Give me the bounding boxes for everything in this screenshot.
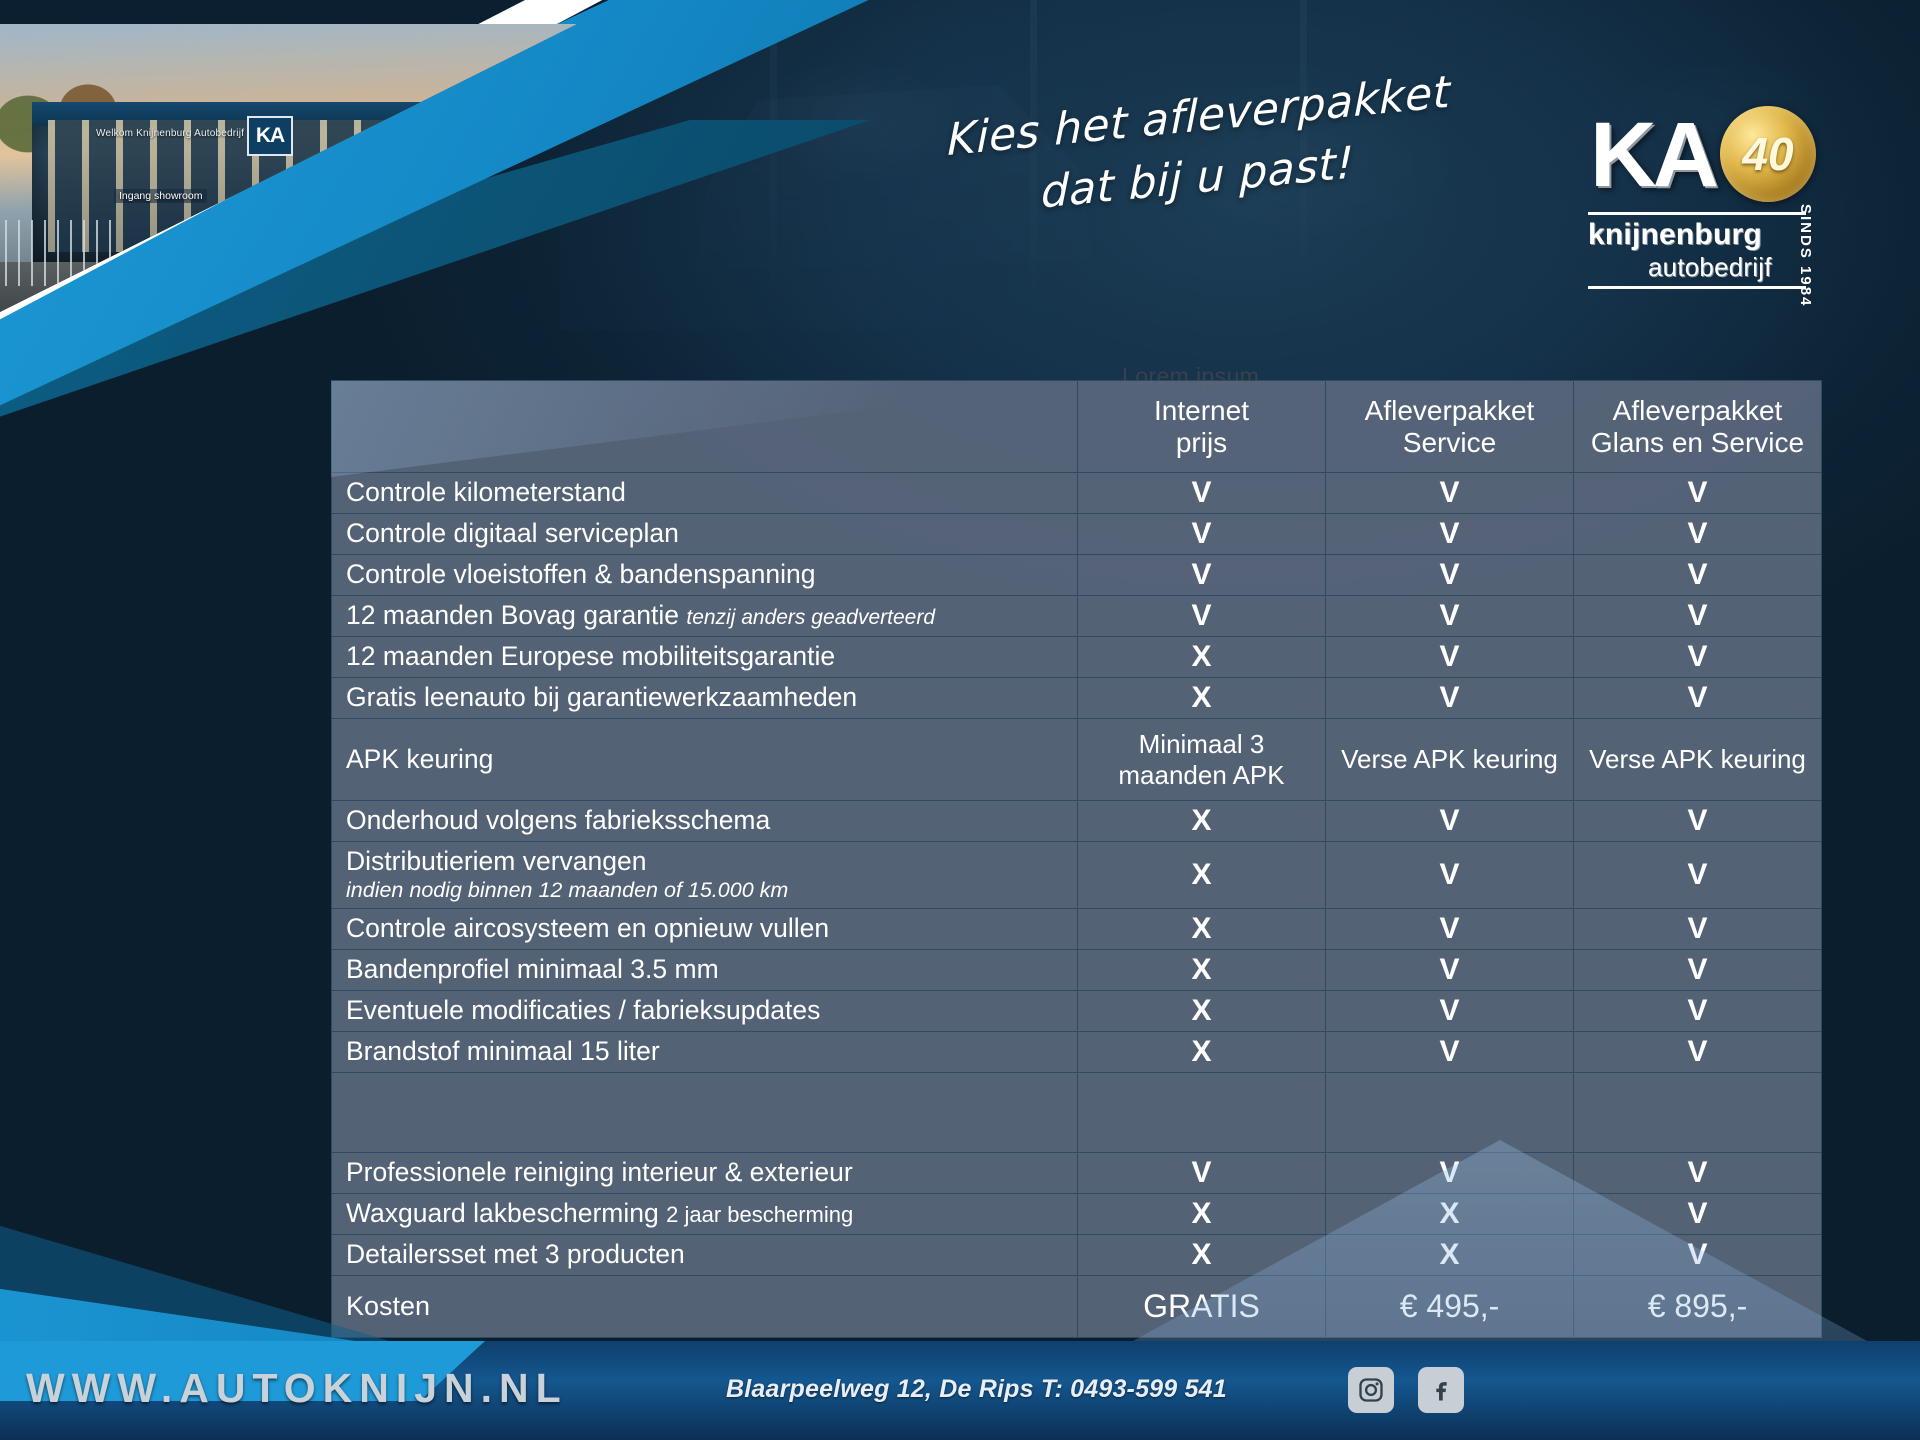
row-cell-glans: V <box>1574 596 1822 637</box>
row-cell-service: V <box>1326 637 1574 678</box>
row-feature-label: 12 maanden Europese mobiliteitsgarantie <box>332 637 1078 678</box>
row-feature-label: Brandstof minimaal 15 liter <box>332 1031 1078 1072</box>
row-cell-glans: V <box>1574 842 1822 909</box>
table-row: Detailersset met 3 producten X X V <box>332 1234 1822 1275</box>
row-cell-service: V <box>1326 1031 1574 1072</box>
table-body: Controle kilometerstand V V V Controle d… <box>332 473 1822 1338</box>
header-label-0: Internet <box>1154 395 1249 426</box>
table-row: Onderhoud volgens fabrieksschema X V V <box>332 801 1822 842</box>
row-cell-glans: V <box>1574 1031 1822 1072</box>
row-feature-cell: Waxguard lakbescherming 2 jaar beschermi… <box>332 1193 1078 1234</box>
row-feature-label: Controle digitaal serviceplan <box>332 514 1078 555</box>
package-comparison-table: Internet prijs Afleverpakket Service Afl… <box>331 380 1822 1338</box>
table-header: Internet prijs Afleverpakket Service Afl… <box>332 381 1822 473</box>
row-cell-internet: X <box>1078 990 1326 1031</box>
row-feature-label: Distributieriem vervangen <box>346 846 646 876</box>
logo-since-text: SINDS 1984 <box>1797 204 1814 307</box>
table-row: Controle vloeistoffen & bandenspanning V… <box>332 555 1822 596</box>
cost-label: Kosten <box>332 1275 1078 1337</box>
row-cell-glans <box>1574 1072 1822 1152</box>
logo-divider-bottom <box>1588 286 1806 289</box>
row-cell-glans: V <box>1574 514 1822 555</box>
row-cell-internet: X <box>1078 637 1326 678</box>
row-cell-internet: V <box>1078 596 1326 637</box>
row-cell-service: V <box>1326 596 1574 637</box>
row-cell-internet <box>1078 1072 1326 1152</box>
table-row-cost: Kosten GRATIS € 495,- € 895,- <box>332 1275 1822 1337</box>
row-feature-cell: 12 maanden Bovag garantie tenzij anders … <box>332 596 1078 637</box>
row-cell-glans: V <box>1574 949 1822 990</box>
table-row: APK keuring Minimaal 3 maanden APK Verse… <box>332 719 1822 801</box>
logo-anniversary-badge: 40 <box>1720 106 1816 202</box>
header-cell-afleverpakket-glans: Afleverpakket Glans en Service <box>1574 381 1822 473</box>
header-cell-internet-prijs: Internet prijs <box>1078 381 1326 473</box>
table-header-row: Internet prijs Afleverpakket Service Afl… <box>332 381 1822 473</box>
row-cell-service <box>1326 1072 1574 1152</box>
row-cell-service: V <box>1326 1152 1574 1193</box>
logo-company-subtitle: autobedrijf <box>1648 252 1848 283</box>
row-feature-label: Eventuele modificaties / fabrieksupdates <box>332 990 1078 1031</box>
row-cell-internet: X <box>1078 1234 1326 1275</box>
row-cell-glans: V <box>1574 473 1822 514</box>
row-cell-service: V <box>1326 801 1574 842</box>
row-cell-service: X <box>1326 1193 1574 1234</box>
photo-ka-sign: KA <box>247 116 293 156</box>
row-feature-label <box>332 1072 1078 1152</box>
row-cell-glans: Verse APK keuring <box>1574 719 1822 801</box>
row-cell-service: V <box>1326 908 1574 949</box>
table-row: Controle digitaal serviceplan V V V <box>332 514 1822 555</box>
row-cell-internet: X <box>1078 908 1326 949</box>
footer-website[interactable]: WWW.AUTOKNIJN.NL <box>26 1365 568 1412</box>
logo-company-name: knijnenburg <box>1588 218 1806 252</box>
table-row: Eventuele modificaties / fabrieksupdates… <box>332 990 1822 1031</box>
row-cell-service: V <box>1326 678 1574 719</box>
table-row: 12 maanden Bovag garantie tenzij anders … <box>332 596 1822 637</box>
row-feature-label: APK keuring <box>332 719 1078 801</box>
row-feature-label: 12 maanden Bovag garantie <box>346 600 679 630</box>
instagram-icon[interactable] <box>1348 1367 1394 1413</box>
table-row: Distributieriem vervangenindien nodig bi… <box>332 842 1822 909</box>
row-cell-internet: Minimaal 3 maanden APK <box>1078 719 1326 801</box>
row-cell-glans: V <box>1574 1193 1822 1234</box>
table-row: Brandstof minimaal 15 liter X V V <box>332 1031 1822 1072</box>
row-cell-service: V <box>1326 555 1574 596</box>
row-cell-internet: X <box>1078 801 1326 842</box>
row-feature-label: Bandenprofiel minimaal 3.5 mm <box>332 949 1078 990</box>
row-cell-glans: V <box>1574 637 1822 678</box>
row-feature-note: indien nodig binnen 12 maanden of 15.000… <box>346 878 1077 903</box>
row-feature-label: Professionele reiniging interieur & exte… <box>332 1152 1078 1193</box>
poster-canvas: KA Welkom Knijnenburg Autobedrijf Ingang… <box>0 0 1920 1440</box>
header-sub-1: Service <box>1403 427 1496 458</box>
logo-divider-top <box>1588 212 1806 215</box>
row-cell-internet: X <box>1078 842 1326 909</box>
row-cell-internet: X <box>1078 1031 1326 1072</box>
row-cell-internet: V <box>1078 555 1326 596</box>
row-feature-label: Onderhoud volgens fabrieksschema <box>332 801 1078 842</box>
row-cell-service: V <box>1326 514 1574 555</box>
row-feature-label: Controle vloeistoffen & bandenspanning <box>332 555 1078 596</box>
row-cell-glans: V <box>1574 555 1822 596</box>
row-feature-cell: Distributieriem vervangenindien nodig bi… <box>332 842 1078 909</box>
row-cell-internet: V <box>1078 514 1326 555</box>
cost-value-internet: GRATIS <box>1078 1275 1326 1337</box>
row-cell-service: V <box>1326 473 1574 514</box>
row-cell-internet: X <box>1078 949 1326 990</box>
header-sub-0: prijs <box>1176 427 1227 458</box>
row-feature-label: Waxguard lakbescherming <box>346 1198 659 1228</box>
cost-value-glans: € 895,- <box>1574 1275 1822 1337</box>
row-cell-glans: V <box>1574 1152 1822 1193</box>
row-cell-glans: V <box>1574 678 1822 719</box>
footer-bar: WWW.AUTOKNIJN.NL Blaarpeelweg 12, De Rip… <box>0 1341 1920 1440</box>
row-cell-service: V <box>1326 842 1574 909</box>
facebook-icon[interactable] <box>1418 1367 1464 1413</box>
row-cell-service: Verse APK keuring <box>1326 719 1574 801</box>
table-row: Waxguard lakbescherming 2 jaar beschermi… <box>332 1193 1822 1234</box>
table-row-spacer <box>332 1072 1822 1152</box>
photo-entrance-sign: Ingang showroom <box>114 189 207 203</box>
cost-value-service: € 495,- <box>1326 1275 1574 1337</box>
table-row: Gratis leenauto bij garantiewerkzaamhede… <box>332 678 1822 719</box>
table-row: Controle aircosysteem en opnieuw vullen … <box>332 908 1822 949</box>
row-cell-glans: V <box>1574 801 1822 842</box>
table-row: Professionele reiniging interieur & exte… <box>332 1152 1822 1193</box>
footer-address: Blaarpeelweg 12, De Rips T: 0493-599 541 <box>726 1375 1227 1404</box>
company-logo: KA 40 knijnenburg autobedrijf SINDS 1984 <box>1590 100 1840 330</box>
row-feature-label: Detailersset met 3 producten <box>332 1234 1078 1275</box>
row-cell-glans: V <box>1574 990 1822 1031</box>
row-cell-internet: X <box>1078 678 1326 719</box>
row-feature-label: Gratis leenauto bij garantiewerkzaamhede… <box>332 678 1078 719</box>
row-cell-service: X <box>1326 1234 1574 1275</box>
row-cell-internet: X <box>1078 1193 1326 1234</box>
row-cell-glans: V <box>1574 908 1822 949</box>
row-feature-note: tenzij anders geadverteerd <box>686 606 935 629</box>
header-cell-afleverpakket-service: Afleverpakket Service <box>1326 381 1574 473</box>
table-row: 12 maanden Europese mobiliteitsgarantie … <box>332 637 1822 678</box>
row-feature-label: Controle aircosysteem en opnieuw vullen <box>332 908 1078 949</box>
header-cell-feature <box>332 381 1078 473</box>
table-row: Bandenprofiel minimaal 3.5 mm X V V <box>332 949 1822 990</box>
row-cell-internet: V <box>1078 1152 1326 1193</box>
photo-welcome-sign: Welkom Knijnenburg Autobedrijf <box>96 128 244 139</box>
row-cell-glans: V <box>1574 1234 1822 1275</box>
row-cell-internet: V <box>1078 473 1326 514</box>
table-row: Controle kilometerstand V V V <box>332 473 1822 514</box>
header-label-1: Afleverpakket <box>1365 395 1535 426</box>
header-label-2: Afleverpakket <box>1613 395 1783 426</box>
header-sub-2: Glans en Service <box>1591 427 1804 458</box>
row-feature-label: Controle kilometerstand <box>332 473 1078 514</box>
row-cell-service: V <box>1326 990 1574 1031</box>
comparison-table-wrapper: Internet prijs Afleverpakket Service Afl… <box>331 380 1821 1338</box>
row-cell-service: V <box>1326 949 1574 990</box>
row-feature-note: 2 jaar bescherming <box>666 1202 853 1227</box>
